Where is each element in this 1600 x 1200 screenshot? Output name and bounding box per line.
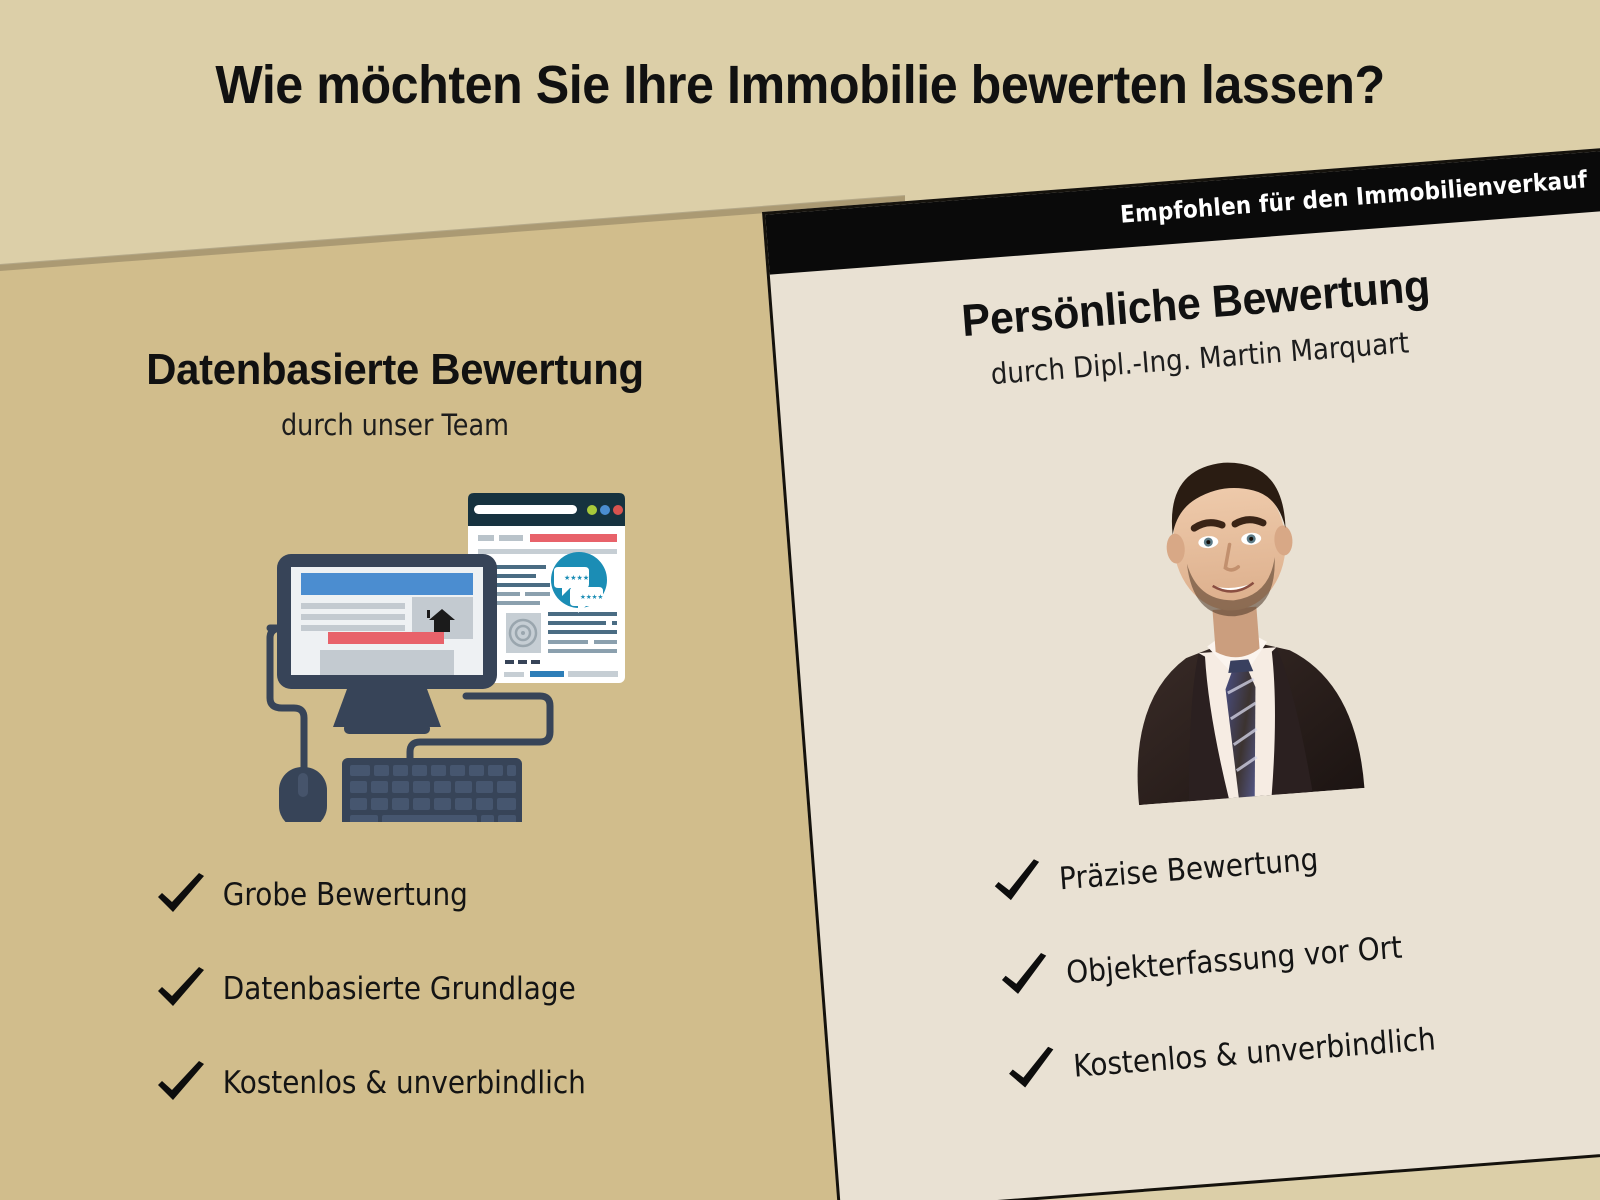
check-icon [150, 967, 212, 1011]
benefit-label: Präzise Bewertung [1047, 842, 1319, 898]
benefit-label: Objekterfassung vor Ort [1054, 930, 1403, 992]
check-icon [992, 952, 1057, 1001]
list-item: Grobe Bewertung [150, 848, 627, 942]
right-benefit-list: Präzise Bewertung Objekterfassung vor Or… [983, 802, 1480, 1119]
benefit-label: Kostenlos & unverbindlich [212, 1065, 586, 1101]
check-icon [999, 1046, 1064, 1095]
left-option-title: Datenbasierte Bewertung [20, 345, 771, 395]
comparison-graphic: Wie möchten Sie Ihre Immobilie bewerten … [0, 0, 1600, 1200]
benefit-label: Datenbasierte Grundlage [212, 971, 576, 1007]
check-icon [985, 858, 1050, 907]
desktop-computer-browser-illustration: ★★★★ ★★★★ [222, 470, 642, 822]
page-title: Wie möchten Sie Ihre Immobilie bewerten … [56, 54, 1544, 116]
check-icon [150, 1061, 212, 1105]
benefit-label: Kostenlos & unverbindlich [1061, 1021, 1437, 1085]
martin-marquart-portrait [1049, 380, 1419, 810]
benefit-label: Grobe Bewertung [212, 877, 468, 913]
recommended-ribbon-label: Empfohlen für den Immobilienverkauf [1119, 165, 1588, 228]
right-option-panel[interactable]: Empfohlen für den Immobilienverkauf Pers… [762, 147, 1600, 1200]
list-item: Datenbasierte Grundlage [150, 942, 627, 1036]
left-option-subtitle: durch unser Team [47, 408, 742, 442]
list-item: Kostenlos & unverbindlich [150, 1036, 627, 1130]
svg-text:★★★★: ★★★★ [580, 593, 603, 601]
svg-text:★★★★: ★★★★ [564, 574, 589, 582]
check-icon [150, 873, 212, 917]
left-benefit-list: Grobe Bewertung Datenbasierte Grundlage … [150, 848, 627, 1130]
